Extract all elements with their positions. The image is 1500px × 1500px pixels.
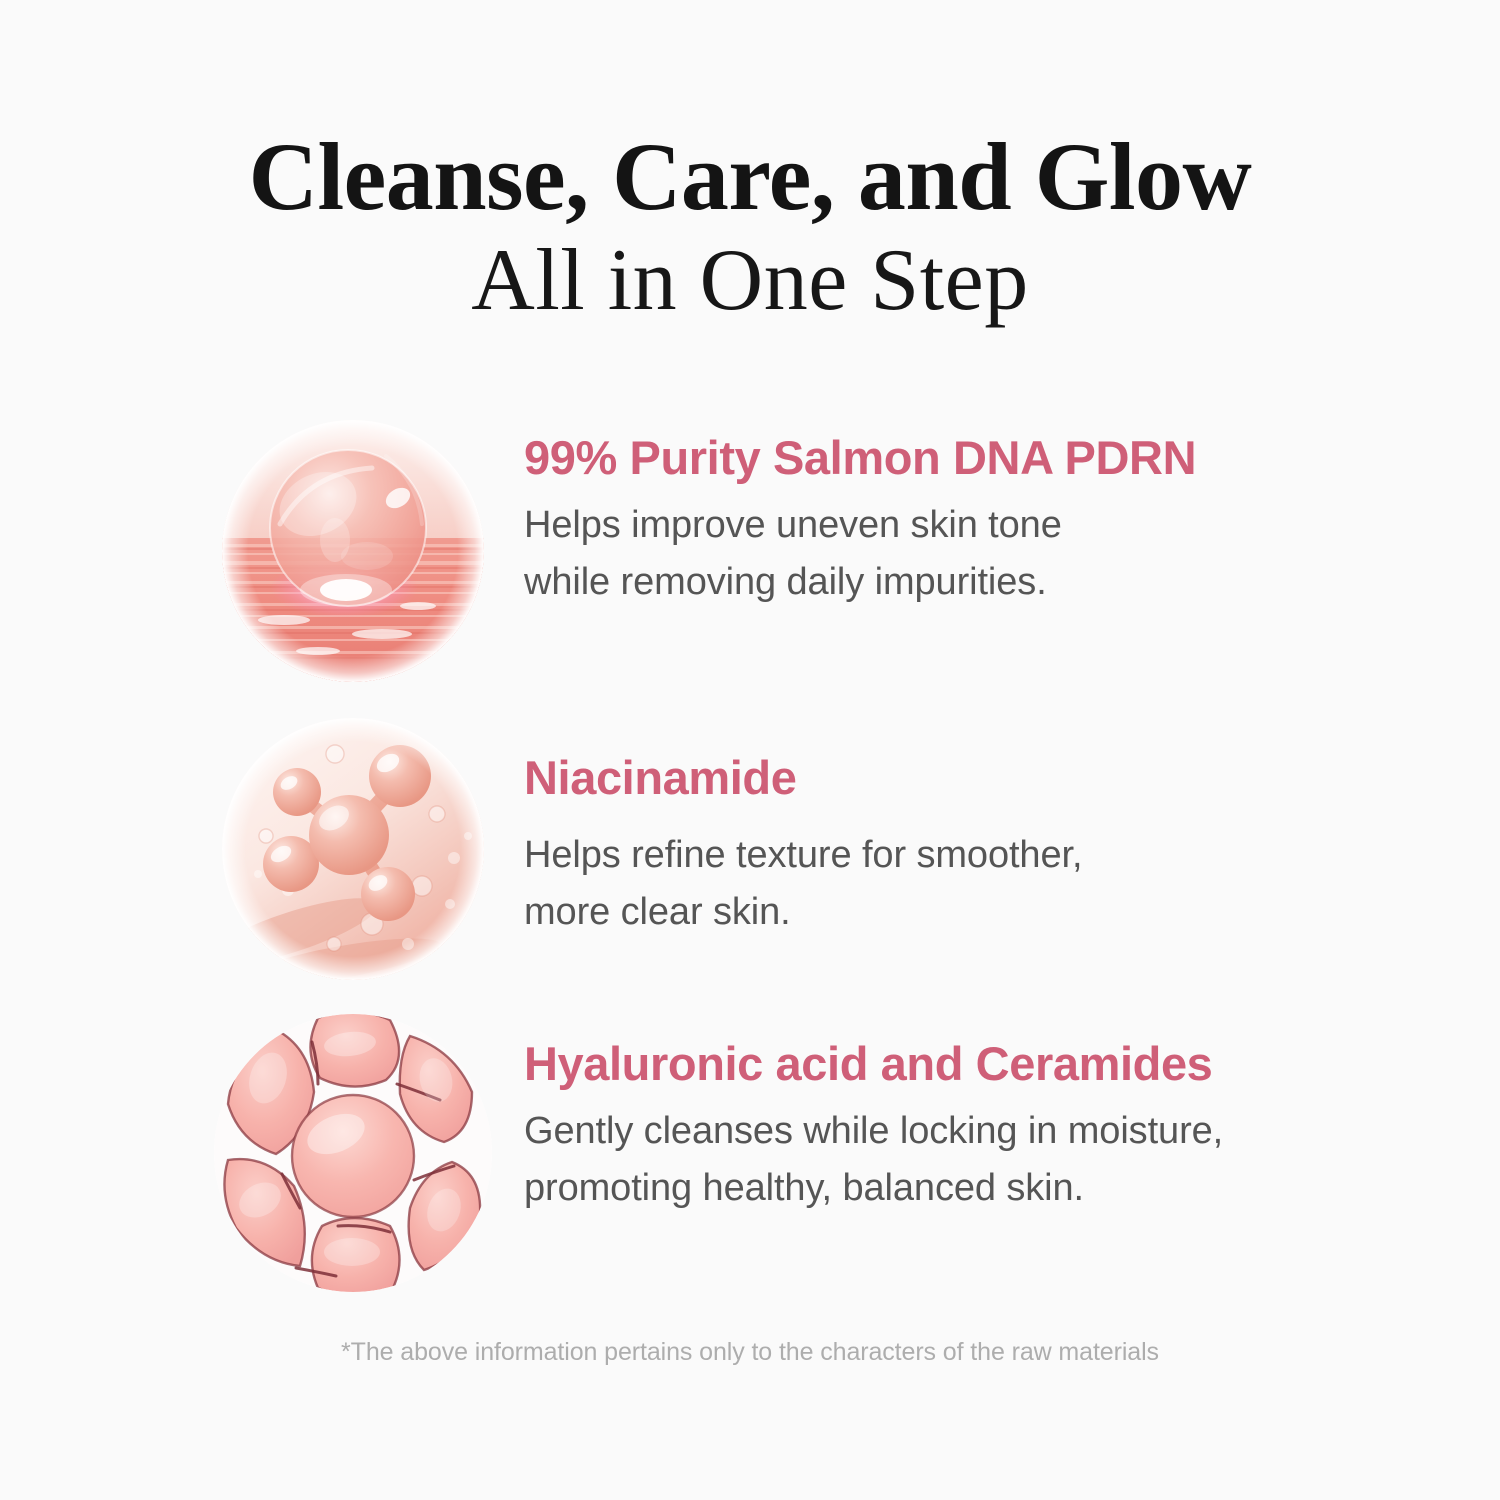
- infographic-page: Cleanse, Care, and Glow All in One Step: [0, 0, 1500, 1500]
- feature-title: Niacinamide: [524, 752, 1384, 805]
- cell-cluster-image: [214, 1014, 492, 1292]
- molecule-structure-image: [222, 718, 484, 980]
- feature-title: 99% Purity Salmon DNA PDRN: [524, 432, 1384, 485]
- feature-description-line: while removing daily impurities.: [524, 554, 1384, 611]
- feature-item: Niacinamide Helps refine texture for smo…: [0, 724, 1500, 1020]
- feature-text: Hyaluronic acid and Ceramides Gently cle…: [524, 1038, 1384, 1217]
- title-line-2: All in One Step: [0, 232, 1500, 331]
- feature-description-line: more clear skin.: [524, 884, 1384, 941]
- feature-item: Hyaluronic acid and Ceramides Gently cle…: [0, 1028, 1500, 1324]
- title-line-1: Cleanse, Care, and Glow: [0, 128, 1500, 226]
- feature-text: Niacinamide Helps refine texture for smo…: [524, 752, 1384, 941]
- feature-description-line: Helps refine texture for smoother,: [524, 827, 1384, 884]
- feature-description-line: Gently cleanses while locking in moistur…: [524, 1103, 1384, 1160]
- feature-item: 99% Purity Salmon DNA PDRN Helps improve…: [0, 420, 1500, 716]
- feature-title: Hyaluronic acid and Ceramides: [524, 1038, 1384, 1091]
- feature-description: Helps improve uneven skin tone while rem…: [524, 497, 1384, 611]
- feature-text: 99% Purity Salmon DNA PDRN Helps improve…: [524, 432, 1384, 611]
- water-droplet-sphere-image: [222, 420, 484, 682]
- feature-list: 99% Purity Salmon DNA PDRN Helps improve…: [0, 420, 1500, 1332]
- feature-description-line: promoting healthy, balanced skin.: [524, 1160, 1384, 1217]
- feature-description-line: Helps improve uneven skin tone: [524, 497, 1384, 554]
- page-title: Cleanse, Care, and Glow All in One Step: [0, 128, 1500, 330]
- feature-description: Helps refine texture for smoother, more …: [524, 827, 1384, 941]
- feature-description: Gently cleanses while locking in moistur…: [524, 1103, 1384, 1217]
- footnote: *The above information pertains only to …: [0, 1338, 1500, 1367]
